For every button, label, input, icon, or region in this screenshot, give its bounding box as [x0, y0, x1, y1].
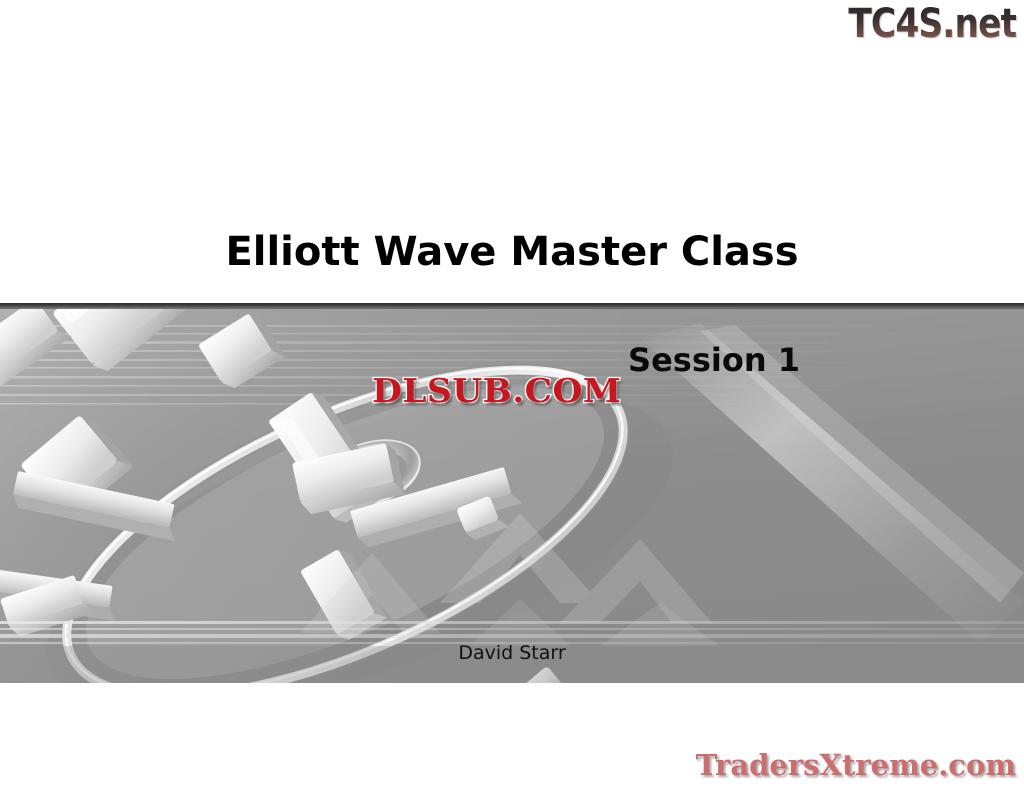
- tradersxtreme-watermark: TradersXtreme.com: [696, 748, 1016, 782]
- slide-author: David Starr: [0, 641, 1024, 665]
- presentation-slide: TC4S.net TC4S.net Elliott Wave Master Cl…: [0, 0, 1024, 791]
- tc4s-logo: TC4S.net: [848, 2, 1016, 46]
- slide-title: Elliott Wave Master Class: [0, 228, 1024, 276]
- band-top-edge: [0, 303, 1024, 308]
- dlsub-watermark: DLSUB.COM: [372, 372, 621, 410]
